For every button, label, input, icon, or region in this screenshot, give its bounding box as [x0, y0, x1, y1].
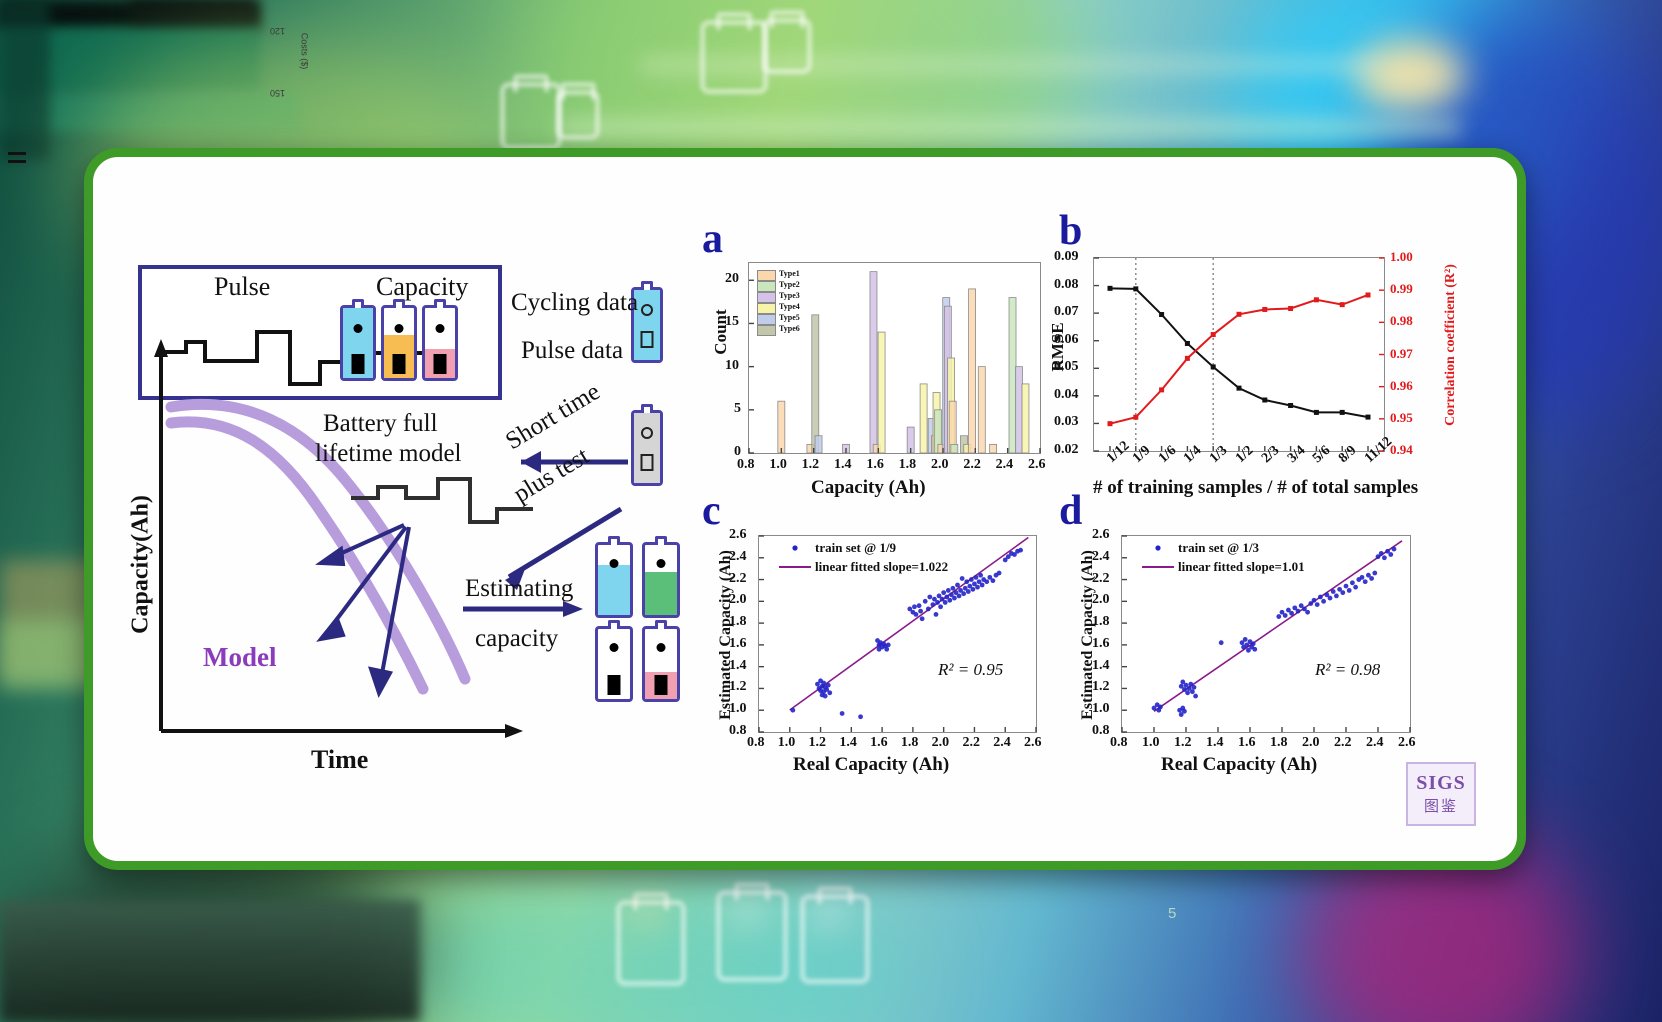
plot-c-xtick: 1.2 [809, 735, 827, 751]
plot-d-xtick: 1.2 [1174, 735, 1192, 751]
chart-b-ytick-right: 1.00 [1390, 249, 1413, 265]
chart-c-r2-annotation: R² = 0.95 [938, 660, 1003, 680]
output-battery-pink [642, 626, 680, 702]
battery-circle-mark [641, 427, 653, 439]
chart-a-xtick: 2.6 [1028, 457, 1046, 473]
estimating-label: Estimating [465, 575, 573, 603]
plot-c-xtick: 1.4 [839, 735, 857, 751]
plot-c-xtick: 0.8 [747, 735, 765, 751]
plot-d-xtick: 1.6 [1238, 735, 1256, 751]
chart-a-ylabel: Count [711, 287, 731, 377]
ghost-battery-dot [636, 900, 658, 922]
battery-block [434, 354, 447, 374]
chart-b-ylabel-right: Correlation coefficient (R²) [1443, 245, 1459, 445]
battery-block [393, 354, 406, 374]
model-label: Model [203, 642, 277, 673]
plot-d-xtick: 1.0 [1142, 735, 1160, 751]
chart-c-r2-text: R² = 0.95 [938, 660, 1003, 679]
battery-circle-mark [641, 304, 653, 316]
capacity-battery-1 [340, 305, 376, 381]
ghost-battery-icon [556, 90, 600, 140]
battery-cap [641, 281, 653, 290]
plot-c-xtick: 2.0 [932, 735, 950, 751]
ghost-battery-dot [818, 902, 840, 924]
chart-b-ytick-right: 0.95 [1390, 410, 1413, 426]
chart-b-ytick-right: 0.99 [1390, 281, 1413, 297]
battery-block [655, 675, 668, 695]
battery-dot [395, 324, 404, 333]
pulse-waveform [163, 332, 353, 384]
sigs-logo-line2: 图鉴 [1424, 795, 1458, 816]
plot-c-xtick: 1.6 [870, 735, 888, 751]
chart-d-xlabel: Real Capacity (Ah) [1161, 754, 1317, 776]
background-axis-fragment-costs: Costs ($) [299, 33, 309, 70]
battery-cap [608, 536, 620, 545]
slide-stage: 120 150 Costs ($) 5 Pulse Capacity [0, 0, 1662, 1022]
battery-dot [436, 324, 445, 333]
chart-d-plot-area: 0.81.01.21.41.61.82.02.22.42.60.81.01.21… [1121, 535, 1411, 733]
chart-a-legend-label: Type5 [779, 313, 800, 322]
background-dark-band-left2 [130, 0, 255, 28]
background-axis-fragment-120: 120 [270, 26, 285, 36]
background-axis-fragment-150: 150 [270, 88, 285, 98]
chart-a-legend-label: Type2 [779, 280, 800, 289]
battery-block [352, 354, 365, 374]
chart-a-legend-label: Type1 [779, 269, 800, 278]
sigs-logo-line1: SIGS [1416, 772, 1466, 795]
plot-c-xtick: 2.2 [962, 735, 980, 751]
plot-d-xtick: 2.4 [1366, 735, 1384, 751]
battery-model-line2: lifetime model [315, 440, 461, 468]
model-x-arrowhead [505, 724, 523, 738]
chart-a-legend-label: Type6 [779, 324, 800, 333]
battery-model-line1: Battery full [323, 410, 438, 438]
battery-square-mark [641, 331, 654, 348]
chart-b-ytick-left: 0.02 [1054, 442, 1079, 458]
battery-dot [657, 559, 666, 568]
battery-dot [354, 324, 363, 333]
battery-fill [598, 565, 630, 615]
chart-a-legend-swatch [757, 292, 776, 303]
chart-b-plot-area: 0.020.030.040.050.060.070.080.090.940.95… [1093, 257, 1385, 452]
plot-d-xtick: 1.8 [1270, 735, 1288, 751]
chart-a-xtick: 1.6 [866, 457, 884, 473]
ghost-battery-dot [736, 900, 758, 922]
panel-letter-b: b [1059, 207, 1082, 255]
capacity-battery-3 [422, 305, 458, 381]
battery-cap [655, 536, 667, 545]
chart-b-xlabel: # of training samples / # of total sampl… [1093, 477, 1418, 499]
chart-a-xtick: 2.4 [996, 457, 1014, 473]
chart-b-ytick-right: 0.98 [1390, 313, 1413, 329]
chart-a-plot-area: 0.81.01.21.41.61.82.02.22.42.605101520Ty… [748, 262, 1041, 454]
battery-cap [434, 299, 446, 308]
battery-cap [641, 404, 653, 413]
chart-a-legend-swatch [757, 270, 776, 281]
chart-a-legend-swatch [757, 303, 776, 314]
panel-letter-c: c [702, 487, 721, 535]
background-lightgreen-band [0, 0, 50, 160]
sigs-logo: SIGS 图鉴 [1406, 762, 1476, 826]
battery-dot [657, 643, 666, 652]
plot-d-xtick: 1.4 [1206, 735, 1224, 751]
battery-square-mark [641, 454, 654, 471]
chart-b-ylabel: RMSE [1048, 302, 1068, 392]
plot-c-xtick: 1.8 [901, 735, 919, 751]
background-dash-mark [8, 152, 26, 155]
battery-block [608, 675, 621, 695]
output-battery-white [595, 626, 633, 702]
chart-a-xtick: 1.4 [834, 457, 852, 473]
plot-c-xtick: 1.0 [778, 735, 796, 751]
model-x-axis-label: Time [311, 745, 368, 775]
page-number: 5 [1168, 905, 1176, 922]
battery-dot [610, 643, 619, 652]
battery-dot [610, 559, 619, 568]
chart-a-xtick: 1.2 [802, 457, 820, 473]
plot-c-xtick: 2.6 [1024, 735, 1042, 751]
chart-a-ytick: 5 [734, 401, 741, 417]
cycling-data-label: Cycling data [511, 289, 638, 317]
chart-a-xlabel: Capacity (Ah) [811, 477, 926, 499]
source-battery-gray [631, 410, 663, 486]
background-lamp-glow [1355, 40, 1465, 110]
output-battery-cyan [595, 542, 633, 618]
chart-a-legend-label: Type4 [779, 302, 800, 311]
chart-a-ytick: 0 [734, 444, 741, 460]
chart-d-r2-text: R² = 0.98 [1315, 660, 1380, 679]
content-card: Pulse Capacity [84, 148, 1526, 870]
chart-a-legend-label: Type3 [779, 291, 800, 300]
chart-c-plot-area: 0.81.01.21.41.61.82.02.22.42.60.81.01.21… [758, 535, 1037, 733]
estimating-arrow-head [563, 601, 583, 617]
background-streak-1 [560, 120, 1460, 136]
battery-fill [634, 413, 660, 483]
output-battery-green [642, 542, 680, 618]
chart-d-ylabel: Estimated Capacity (Ah) [1079, 530, 1097, 740]
background-conveyor [0, 900, 420, 1022]
plot-d-xtick: 2.6 [1398, 735, 1416, 751]
chart-a-xtick: 2.0 [931, 457, 949, 473]
chart-a-ytick: 20 [725, 271, 739, 287]
battery-cap [655, 620, 667, 629]
panel-letter-d: d [1059, 487, 1082, 535]
chart-c-ylabel: Estimated Capacity (Ah) [717, 530, 735, 740]
model-y-arrowhead [154, 339, 168, 357]
plot-d-legend-label-2: linear fitted slope=1.01 [1178, 559, 1305, 575]
pulse-data-label: Pulse data [521, 337, 623, 365]
chart-d-r2-annotation: R² = 0.98 [1315, 660, 1380, 680]
ghost-battery-icon [500, 82, 562, 150]
chart-a-xtick: 2.2 [963, 457, 981, 473]
battery-cap [352, 299, 364, 308]
plot-d-legend-label-1: train set @ 1/3 [1178, 540, 1259, 556]
chart-b-ytick-right: 0.97 [1390, 346, 1413, 362]
battery-fill [645, 572, 677, 615]
plot-d-xtick: 2.2 [1334, 735, 1352, 751]
chart-b-ytick-left: 0.09 [1054, 249, 1079, 265]
estimating-capacity-word: capacity [475, 625, 558, 653]
chart-a-legend-swatch [757, 281, 776, 292]
chart-a-xtick: 1.8 [899, 457, 917, 473]
chart-b-ytick-left: 0.03 [1054, 414, 1079, 430]
plot-d-xtick: 0.8 [1110, 735, 1128, 751]
chart-b-ytick-left: 0.08 [1054, 277, 1079, 293]
background-dash-mark [8, 160, 26, 163]
plot-d-xtick: 2.0 [1302, 735, 1320, 751]
model-y-axis-label: Capacity(Ah) [128, 455, 155, 675]
chart-a-legend-swatch [757, 314, 776, 325]
ghost-battery-icon [762, 18, 812, 74]
plot-c-xtick: 2.4 [993, 735, 1011, 751]
chart-a-xtick: 1.0 [769, 457, 787, 473]
chart-b-ytick-right: 0.96 [1390, 378, 1413, 394]
plot-c-legend-label-2: linear fitted slope=1.022 [815, 559, 948, 575]
battery-cap [393, 299, 405, 308]
ghost-battery-icon [700, 20, 768, 94]
chart-c-xlabel: Real Capacity (Ah) [793, 754, 949, 776]
panel-letter-a: a [702, 215, 723, 263]
battery-cap [608, 620, 620, 629]
plot-c-legend-label-1: train set @ 1/9 [815, 540, 896, 556]
chart-a-legend-swatch [757, 325, 776, 336]
capacity-battery-2 [381, 305, 417, 381]
